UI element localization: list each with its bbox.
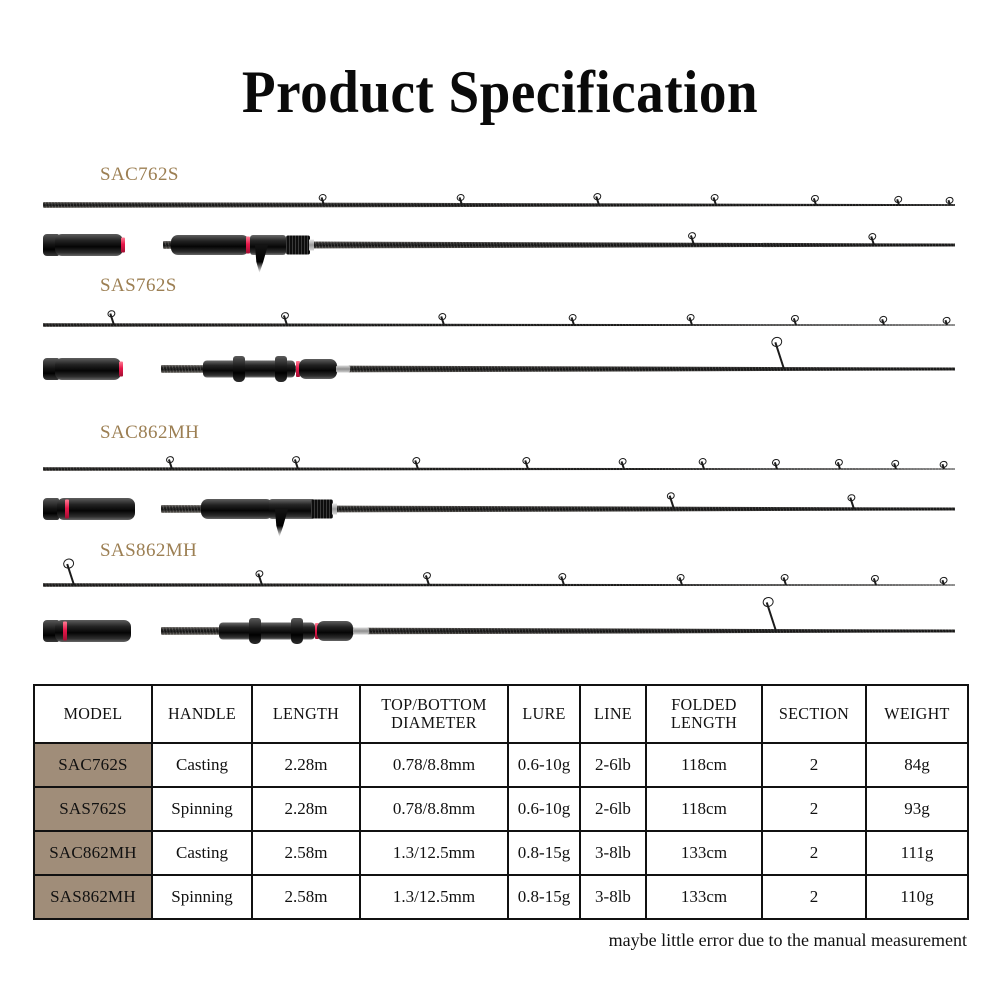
cell-weight: 84g	[866, 743, 968, 787]
fore-grip	[299, 359, 337, 379]
rod-butt-section-3	[43, 492, 955, 526]
cell-section: 2	[762, 875, 866, 919]
rod-label-sas762s: SAS762S	[100, 275, 177, 297]
header-diameter-line1: TOP/BOTTOM	[367, 696, 502, 714]
cell-model: SAS862MH	[34, 875, 152, 919]
header-lure-line1: LURE	[513, 705, 576, 723]
ferrule-ring	[332, 504, 337, 515]
cell-section: 2	[762, 831, 866, 875]
line-guide-icon	[896, 199, 900, 205]
header-weight-line1: WEIGHT	[871, 705, 962, 723]
cell-diameter: 1.3/12.5mm	[360, 831, 508, 875]
reel-seat-nut	[286, 236, 310, 255]
cell-length: 2.28m	[252, 787, 360, 831]
line-guide-icon	[774, 342, 785, 369]
rod-group-2: SAS762S	[0, 262, 1000, 412]
rod-tip-section-2	[43, 312, 955, 338]
rod-butt-section-2	[43, 352, 955, 386]
cell-folded-length: 133cm	[646, 875, 762, 919]
line-guide-icon	[881, 319, 885, 325]
cell-diameter: 1.3/12.5mm	[360, 875, 508, 919]
line-guide-icon	[873, 578, 877, 585]
cell-weight: 110g	[866, 875, 968, 919]
line-guide-icon	[893, 463, 897, 469]
rod-label-sas862mh: SAS862MH	[100, 540, 197, 562]
reel-seat-hood	[275, 356, 287, 382]
reel-seat-nut	[311, 500, 333, 519]
measurement-disclaimer: maybe little error due to the manual mea…	[0, 930, 967, 951]
rod-tip-top-icon	[942, 580, 945, 585]
line-guide-icon	[837, 462, 841, 469]
header-diameter: TOP/BOTTOM DIAMETER	[364, 685, 505, 743]
header-line-line1: LINE	[585, 705, 642, 723]
header-model: MODEL	[37, 685, 149, 743]
cell-model: SAS762S	[34, 787, 152, 831]
cell-model: SAC862MH	[34, 831, 152, 875]
reel-seat-hood	[249, 618, 261, 644]
rod-group-3: SAC862MH	[0, 412, 1000, 552]
accent-ring	[121, 238, 125, 253]
rear-grip	[55, 234, 123, 256]
line-guide-icon	[701, 461, 705, 469]
rod-tip-section-4	[43, 572, 955, 598]
rod-butt-section-4	[43, 614, 955, 648]
cell-handle: Casting	[152, 831, 252, 875]
rear-grip	[55, 358, 121, 380]
header-length: LENGTH	[255, 685, 358, 743]
rod-group-1: SAC762S	[0, 150, 1000, 280]
cell-lure: 0.6-10g	[508, 787, 580, 831]
cell-line: 2-6lb	[580, 787, 646, 831]
page-title: Product Specification	[40, 58, 960, 127]
header-folded-length: FOLDED LENGTH	[649, 685, 759, 743]
table-row: SAS762S Spinning 2.28m 0.78/8.8mm 0.6-10…	[34, 787, 968, 831]
cell-section: 2	[762, 743, 866, 787]
accent-ring	[63, 622, 67, 641]
cell-length: 2.58m	[252, 875, 360, 919]
rod-blank	[43, 202, 955, 208]
cell-weight: 111g	[866, 831, 968, 875]
ferrule-joint	[353, 628, 369, 635]
header-section: SECTION	[765, 685, 864, 743]
header-handle: HANDLE	[155, 685, 250, 743]
line-guide-icon	[783, 577, 787, 585]
cell-diameter: 0.78/8.8mm	[360, 787, 508, 831]
cell-folded-length: 118cm	[646, 787, 762, 831]
table-row: SAS862MH Spinning 2.58m 1.3/12.5mm 0.8-1…	[34, 875, 968, 919]
line-guide-icon	[66, 564, 75, 586]
ferrule-joint	[336, 366, 350, 373]
rod-tip-top-icon	[945, 320, 948, 325]
cell-line: 3-8lb	[580, 875, 646, 919]
table-row: SAC862MH Casting 2.58m 1.3/12.5mm 0.8-15…	[34, 831, 968, 875]
accent-ring	[119, 362, 123, 377]
rod-tip-section-1	[43, 192, 955, 218]
header-folded-line2: LENGTH	[652, 714, 757, 732]
cell-length: 2.58m	[252, 831, 360, 875]
header-diameter-line2: DIAMETER	[367, 714, 502, 732]
header-length-line1: LENGTH	[258, 705, 355, 723]
cell-handle: Spinning	[152, 787, 252, 831]
product-specification-table: MODEL HANDLE LENGTH TOP/BOTTOM DIAMETER …	[33, 684, 969, 920]
header-weight: WEIGHT	[869, 685, 966, 743]
rod-butt-section-1	[43, 228, 955, 262]
rod-tip-top-icon	[942, 464, 945, 469]
table-row: SAC762S Casting 2.28m 0.78/8.8mm 0.6-10g…	[34, 743, 968, 787]
header-handle-line1: HANDLE	[157, 705, 246, 723]
header-lure: LURE	[510, 685, 578, 743]
cell-lure: 0.8-15g	[508, 875, 580, 919]
line-guide-icon	[774, 462, 778, 469]
line-guide-icon	[793, 318, 797, 325]
fore-grip	[201, 499, 273, 519]
line-guide-icon	[679, 577, 683, 585]
header-folded-line1: FOLDED	[652, 696, 757, 714]
rod-blank	[43, 323, 955, 328]
spec-table-container: MODEL HANDLE LENGTH TOP/BOTTOM DIAMETER …	[33, 684, 967, 920]
cell-line: 2-6lb	[580, 743, 646, 787]
table-header-row: MODEL HANDLE LENGTH TOP/BOTTOM DIAMETER …	[34, 685, 968, 743]
rod-blank	[43, 467, 955, 472]
cell-handle: Casting	[152, 743, 252, 787]
header-line: LINE	[582, 685, 645, 743]
accent-ring	[65, 500, 69, 519]
cell-length: 2.28m	[252, 743, 360, 787]
reel-seat-hood	[233, 356, 245, 382]
rod-label-sac762s: SAC762S	[100, 164, 179, 186]
rod-tip-top-icon	[948, 200, 951, 205]
cell-diameter: 0.78/8.8mm	[360, 743, 508, 787]
cell-handle: Spinning	[152, 875, 252, 919]
cell-line: 3-8lb	[580, 831, 646, 875]
cell-weight: 93g	[866, 787, 968, 831]
ferrule-ring	[309, 240, 314, 251]
rod-blank	[43, 583, 955, 588]
header-section-line1: SECTION	[767, 705, 860, 723]
cell-folded-length: 118cm	[646, 743, 762, 787]
cell-section: 2	[762, 787, 866, 831]
cell-folded-length: 133cm	[646, 831, 762, 875]
rod-group-4: SAS862MH	[0, 532, 1000, 672]
cell-lure: 0.8-15g	[508, 831, 580, 875]
rod-label-sac862mh: SAC862MH	[100, 422, 199, 444]
rod-illustration-gallery: SAC762S SAS762	[0, 150, 1000, 670]
cell-lure: 0.6-10g	[508, 743, 580, 787]
line-guide-icon	[766, 602, 777, 631]
cell-model: SAC762S	[34, 743, 152, 787]
fore-grip	[317, 621, 353, 641]
line-guide-icon	[689, 317, 693, 325]
header-model-line1: MODEL	[40, 705, 146, 723]
fore-grip	[171, 235, 249, 255]
rod-tip-section-3	[43, 456, 955, 482]
reel-seat-hood	[291, 618, 303, 644]
